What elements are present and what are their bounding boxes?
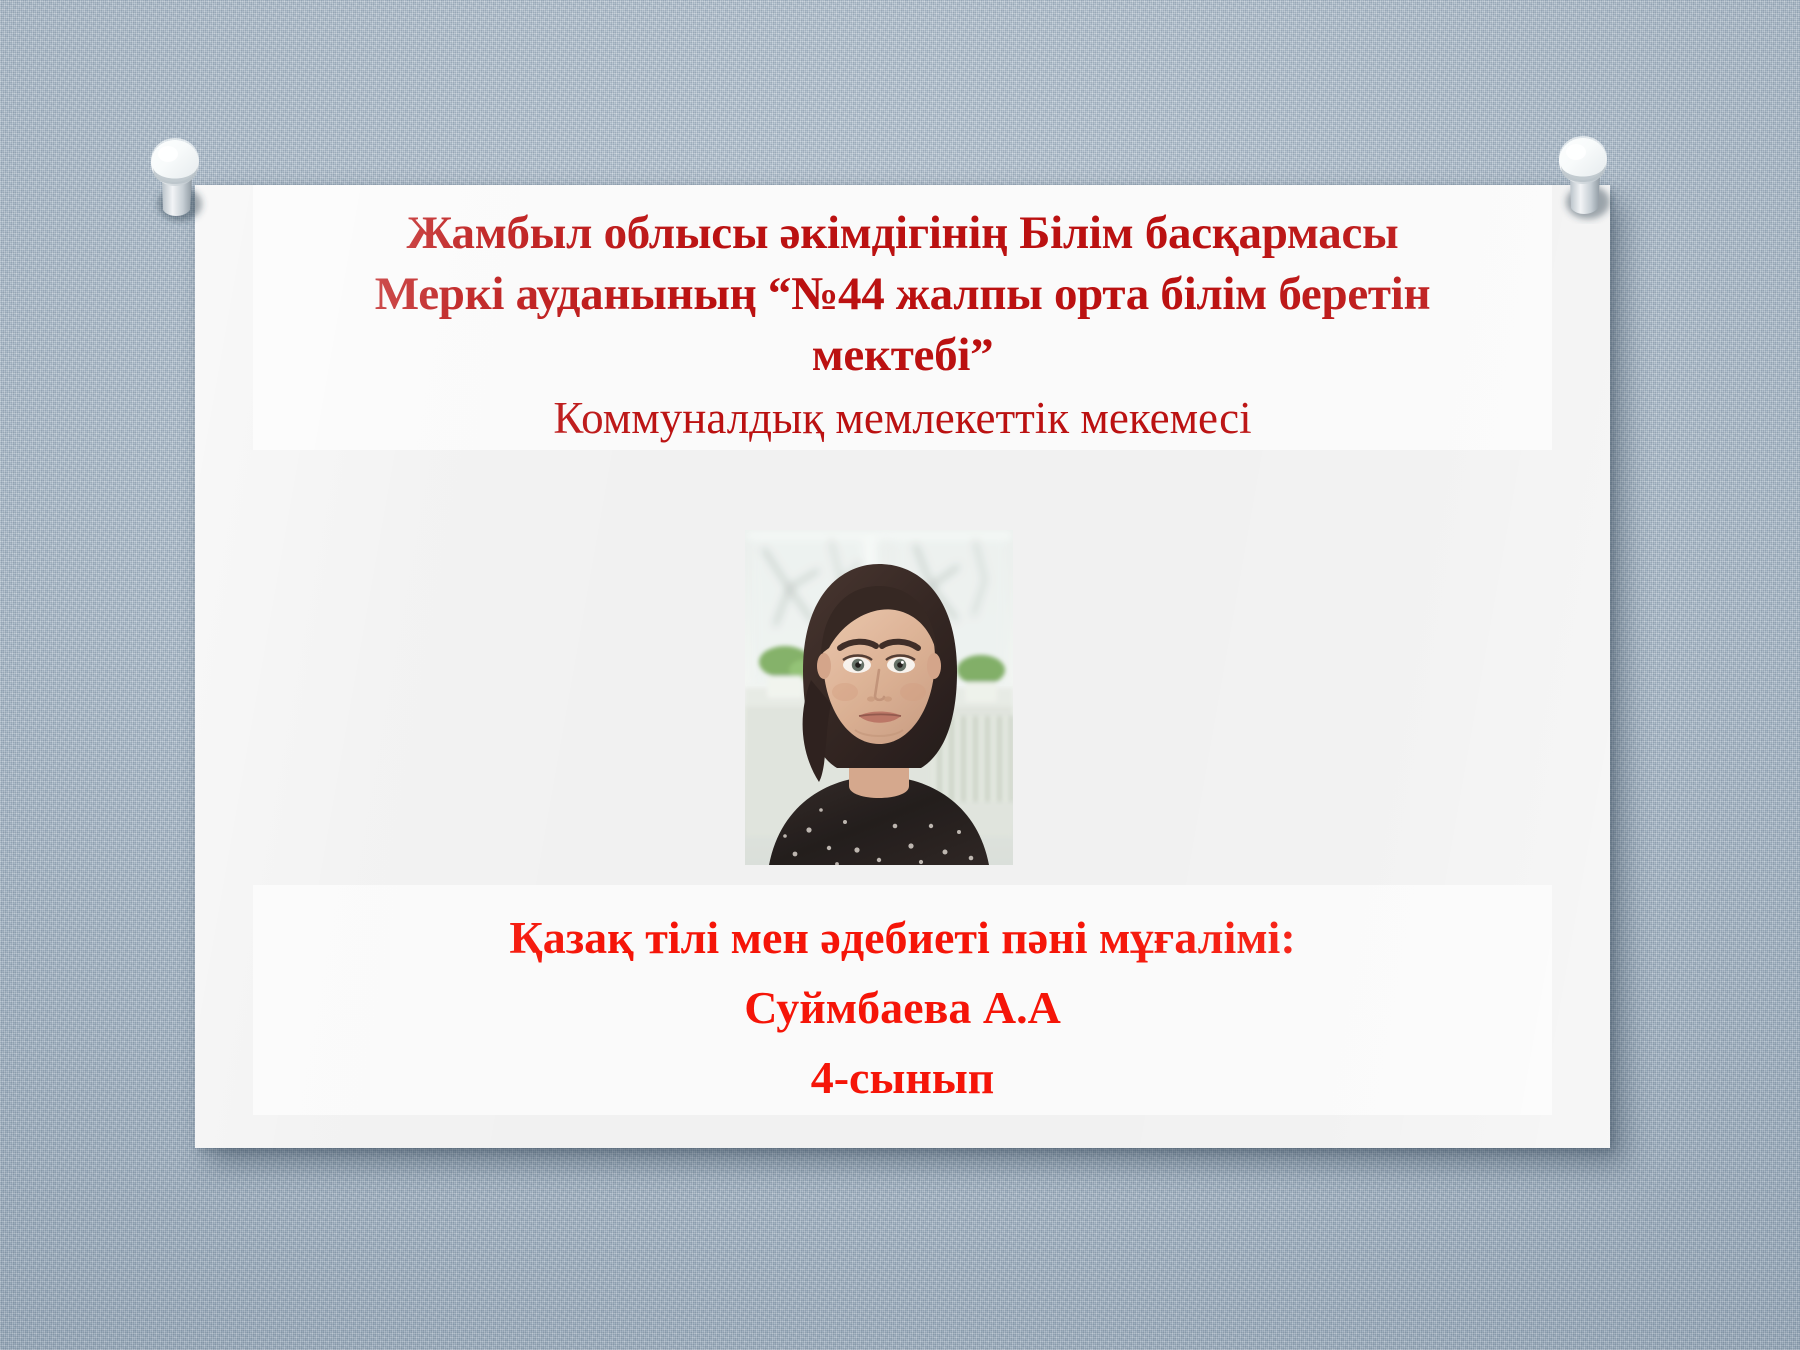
thumbtack-pin-right	[1548, 128, 1622, 224]
header-text-block: Жамбыл облысы әкімдігінің Білім басқарма…	[195, 203, 1610, 450]
thumbtack-pin-left	[140, 130, 214, 226]
header-subtitle: Коммуналдық мемлекеттік мекемесі	[235, 386, 1570, 450]
teacher-portrait-photo	[745, 530, 1013, 865]
footer-text-block: Қазақ тілі мен әдебиеті пәні мұғалімі: С…	[195, 903, 1610, 1113]
footer-line-2: Суймбаева А.А	[235, 973, 1570, 1043]
title-line-1: Жамбыл облысы әкімдігінің Білім басқарма…	[235, 203, 1570, 264]
title-card: Жамбыл облысы әкімдігінің Білім басқарма…	[195, 185, 1610, 1148]
title-line-2: Меркі ауданының “№44 жалпы орта білім бе…	[235, 264, 1570, 325]
photo-portrait-icon	[745, 530, 1013, 865]
thumbtack-pin-icon	[1548, 128, 1622, 224]
thumbtack-pin-icon	[140, 130, 214, 226]
title-line-3: мектебі”	[235, 325, 1570, 386]
footer-line-1: Қазақ тілі мен әдебиеті пәні мұғалімі:	[235, 903, 1570, 973]
footer-line-3: 4-сынып	[235, 1043, 1570, 1113]
presentation-background: Жамбыл облысы әкімдігінің Білім басқарма…	[0, 0, 1800, 1350]
